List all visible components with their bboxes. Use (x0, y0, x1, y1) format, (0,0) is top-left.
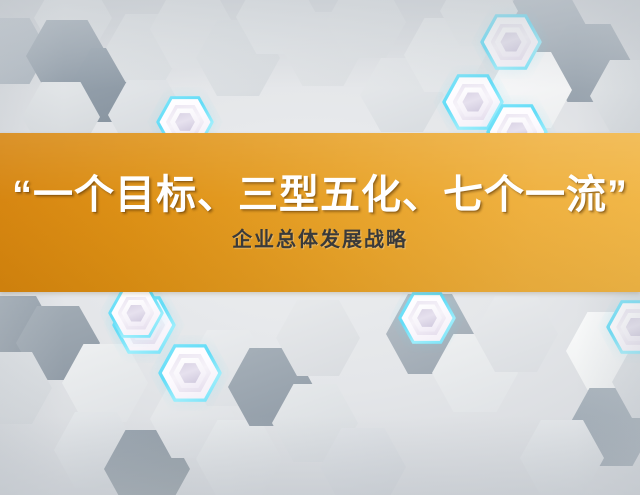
glow-hex-mid-2 (158, 344, 222, 402)
glow-hex-mid-3 (398, 292, 456, 344)
presentation-slide: “一个目标、三型五化、七个一流” 企业总体发展战略 (0, 0, 640, 495)
page-subtitle: 企业总体发展战略 (232, 229, 408, 251)
glow-hex-right-1 (606, 300, 640, 354)
title-banner: “一个目标、三型五化、七个一流” 企业总体发展战略 (0, 133, 640, 292)
page-title: “一个目标、三型五化、七个一流” (12, 174, 628, 216)
glow-hex-top-5 (108, 288, 164, 338)
banner-content: “一个目标、三型五化、七个一流” 企业总体发展战略 (0, 133, 640, 292)
glow-hex-top-1 (480, 14, 542, 70)
